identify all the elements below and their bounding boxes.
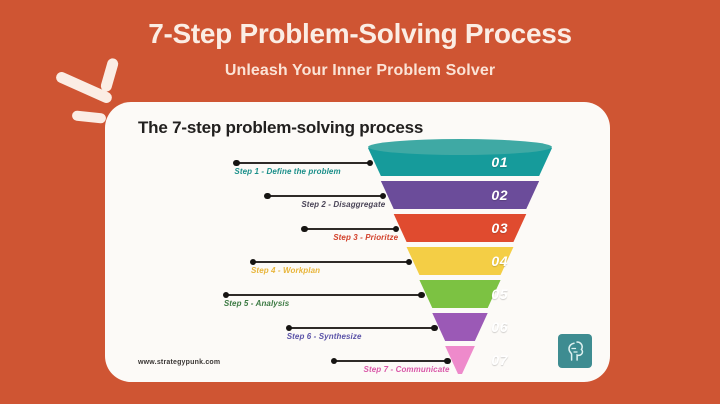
page-title: 7-Step Problem-Solving Process <box>0 18 720 50</box>
website-url: www.strategypunk.com <box>138 359 220 366</box>
connector-dot <box>418 292 424 298</box>
connector-dot <box>286 325 292 331</box>
connector-dot <box>233 160 239 166</box>
step-label-7: Step 7 - Communicate <box>364 365 450 374</box>
step-connectors: Step 1 - Define the problemStep 2 - Disa… <box>105 140 560 370</box>
step-label-6: Step 6 - Synthesize <box>287 332 362 341</box>
connector-line <box>302 228 398 230</box>
connector-dot <box>393 226 399 232</box>
step-label-2: Step 2 - Disaggregate <box>301 200 385 209</box>
connector-line <box>265 195 385 197</box>
brain-head-icon <box>563 339 587 363</box>
connector-dot <box>264 193 270 199</box>
connector-dot <box>223 292 229 298</box>
step-label-4: Step 4 - Workplan <box>251 266 320 275</box>
poster-canvas: 7-Step Problem-Solving Process Unleash Y… <box>0 0 720 404</box>
connector-dot <box>301 226 307 232</box>
content-card: The 7-step problem-solving process 01020… <box>105 102 610 382</box>
connector-dot <box>406 259 412 265</box>
connector-dot <box>331 358 337 364</box>
brand-logo <box>558 334 592 368</box>
step-label-3: Step 3 - Prioritze <box>333 233 398 242</box>
connector-dot <box>380 193 386 199</box>
connector-line <box>332 360 450 362</box>
connector-line <box>224 294 424 296</box>
connector-dot <box>367 160 373 166</box>
connector-line <box>251 261 411 263</box>
connector-line <box>287 327 437 329</box>
spark-decoration-icon <box>72 110 107 123</box>
connector-dot <box>250 259 256 265</box>
connector-line <box>234 162 372 164</box>
connector-dot <box>431 325 437 331</box>
connector-dot <box>444 358 450 364</box>
card-heading: The 7-step problem-solving process <box>138 118 423 138</box>
step-label-5: Step 5 - Analysis <box>224 299 289 308</box>
step-label-1: Step 1 - Define the problem <box>234 167 340 176</box>
